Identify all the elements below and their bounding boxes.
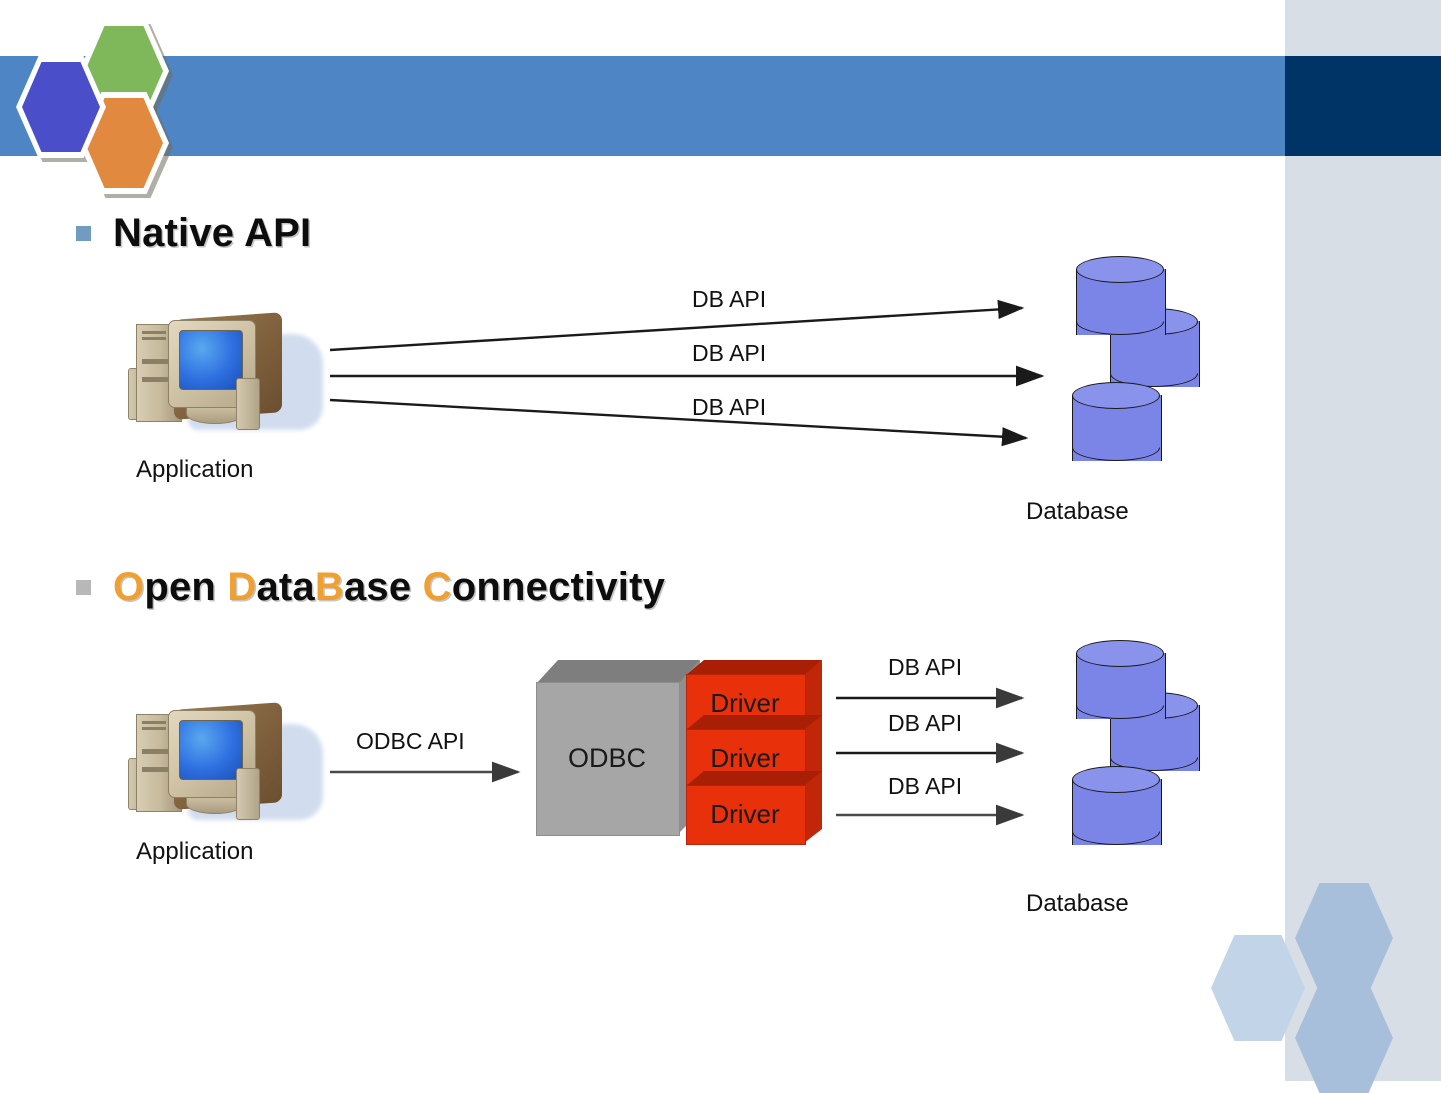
odbc-manager-group: ODBC Driver Driver Driver: [536, 660, 846, 870]
slide-canvas: Native API DB API DB API DB API: [0, 0, 1441, 1081]
edge-label-db-api: DB API: [692, 394, 766, 421]
heading-accent-letter: O: [113, 565, 144, 609]
edge-label-db-api: DB API: [692, 340, 766, 367]
heading-plain-text: pen: [144, 565, 227, 609]
odbc-box-icon: ODBC: [536, 660, 700, 834]
node-label-application: Application: [136, 456, 253, 484]
application-computer-icon: [128, 306, 318, 441]
edge-label-odbc-api: ODBC API: [356, 728, 465, 755]
driver-box-icon: Driver: [686, 771, 836, 843]
speaker-right-icon: [236, 378, 260, 430]
node-label-database: Database: [1026, 498, 1129, 526]
heading-text-odbc: Open DataBase Connectivity: [113, 565, 665, 610]
edge-label-db-api: DB API: [888, 773, 962, 800]
database-cylinder-icon: [1072, 766, 1160, 858]
database-cylinder-stack: [1038, 256, 1198, 486]
database-cylinder-stack: [1038, 640, 1198, 870]
square-bullet-icon: [76, 580, 91, 595]
monitor-screen: [179, 330, 243, 390]
database-cylinder-icon: [1076, 640, 1164, 732]
header-band: [0, 56, 1441, 156]
square-bullet-icon: [76, 226, 91, 241]
diagram-native-api: DB API DB API DB API Application: [0, 250, 1285, 540]
node-label-database: Database: [1026, 890, 1129, 918]
monitor-screen: [179, 720, 243, 780]
edge-label-db-api: DB API: [888, 654, 962, 681]
heading-plain-text: onnectivity: [452, 565, 665, 609]
heading-accent-letter: D: [227, 565, 256, 609]
section-heading-odbc: Open DataBase Connectivity: [76, 565, 665, 610]
node-label-application: Application: [136, 838, 253, 866]
application-computer-icon: [128, 696, 318, 831]
heading-plain-text: ase: [344, 565, 423, 609]
diagram-odbc: ODBC API DB API DB API DB API Applicatio…: [0, 640, 1285, 940]
database-cylinder-icon: [1072, 382, 1160, 474]
heading-accent-letter: C: [423, 565, 452, 609]
heading-accent-letter: B: [315, 565, 344, 609]
edge-label-db-api: DB API: [692, 286, 766, 313]
odbc-box-label: ODBC: [536, 682, 678, 834]
database-cylinder-icon: [1076, 256, 1164, 348]
speaker-right-icon: [236, 768, 260, 820]
edge-label-db-api: DB API: [888, 710, 962, 737]
header-accent-block: [1285, 56, 1441, 156]
heading-plain-text: ata: [256, 565, 314, 609]
driver-box-label: Driver: [686, 785, 804, 843]
